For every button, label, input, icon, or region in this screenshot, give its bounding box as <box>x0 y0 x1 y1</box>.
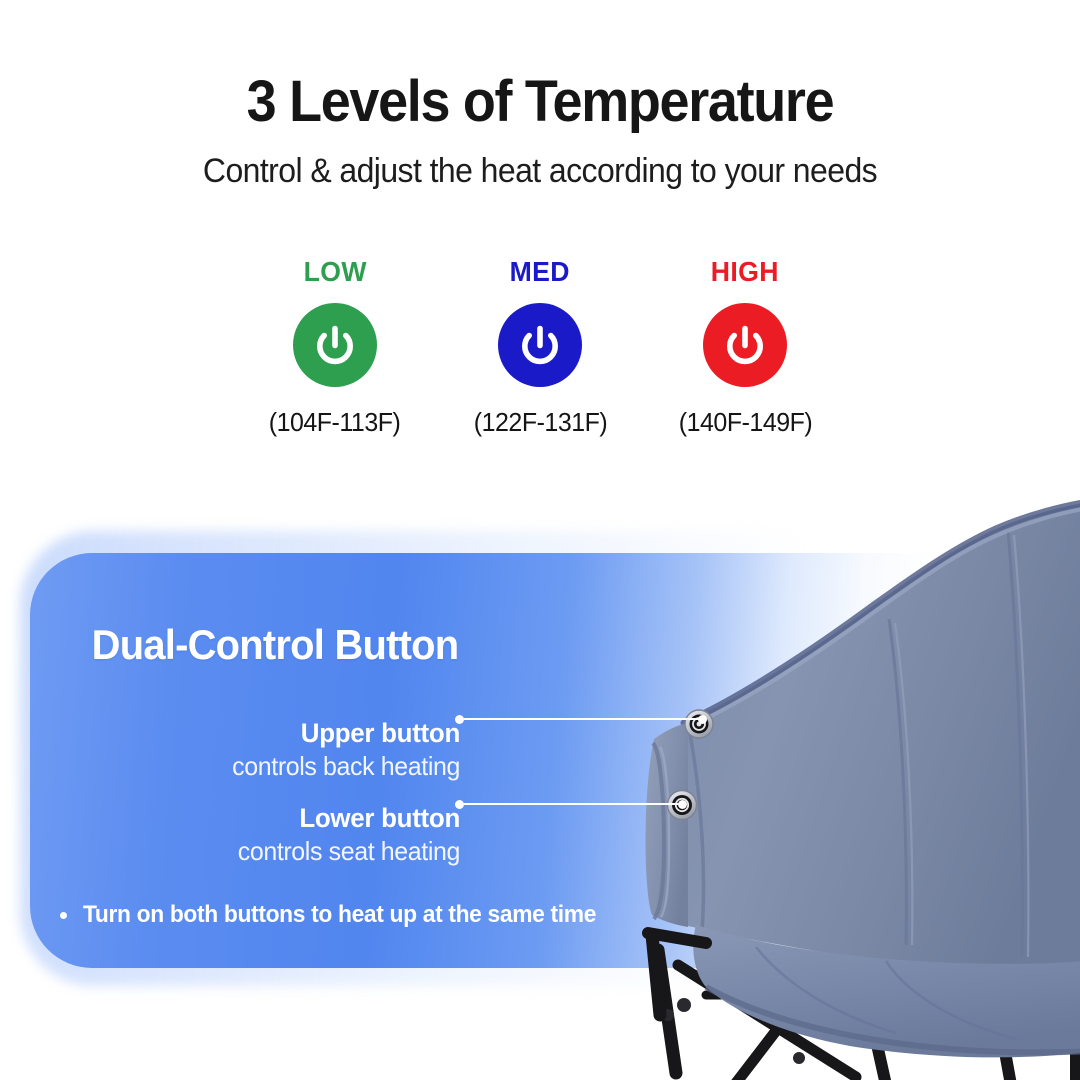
level-low-range: (104F-113F) <box>269 407 401 438</box>
callout-lower-button: Lower button controls seat heating <box>30 803 460 867</box>
power-icon <box>515 320 565 370</box>
panel-bullet-text: Turn on both buttons to heat up at the s… <box>83 901 596 929</box>
level-med-button[interactable] <box>498 303 582 387</box>
power-icon <box>310 320 360 370</box>
level-high: HIGH (140F-149F) <box>645 258 845 468</box>
leader-dot-end <box>698 715 707 724</box>
level-low: LOW (104F-113F) <box>235 258 435 468</box>
panel-bullet: Turn on both buttons to heat up at the s… <box>60 901 623 929</box>
leader-dot-end <box>678 800 687 809</box>
leader-line <box>464 718 698 720</box>
level-med-range: (122F-131F) <box>473 407 606 438</box>
callout-upper-head: Upper button <box>47 718 460 748</box>
heated-camping-chair <box>556 495 1080 1080</box>
callout-upper-sub: controls back heating <box>47 751 460 782</box>
leader-dot-start <box>455 715 464 724</box>
infographic-page: 3 Levels of Temperature Control & adjust… <box>0 0 1080 1080</box>
power-icon <box>720 320 770 370</box>
level-low-label: LOW <box>303 258 366 286</box>
callout-lower-sub: controls seat heating <box>47 836 460 867</box>
callout-upper-button: Upper button controls back heating <box>30 718 460 782</box>
leader-line-upper <box>455 713 707 725</box>
leader-dot-start <box>455 800 464 809</box>
page-title: 3 Levels of Temperature <box>38 68 1042 135</box>
level-med: MED (122F-131F) <box>440 258 640 468</box>
level-high-range: (140F-149F) <box>678 407 811 438</box>
callout-lower-head: Lower button <box>47 803 460 833</box>
bullet-dot-icon <box>60 912 67 919</box>
panel-title: Dual-Control Button <box>92 621 459 669</box>
leader-line-lower <box>455 798 687 810</box>
level-high-label: HIGH <box>711 258 779 286</box>
level-low-button[interactable] <box>293 303 377 387</box>
level-med-label: MED <box>510 258 570 286</box>
level-high-button[interactable] <box>703 303 787 387</box>
temperature-levels: LOW (104F-113F) MED <box>235 258 845 468</box>
leader-line <box>464 803 678 805</box>
page-subtitle: Control & adjust the heat according to y… <box>32 152 1047 191</box>
